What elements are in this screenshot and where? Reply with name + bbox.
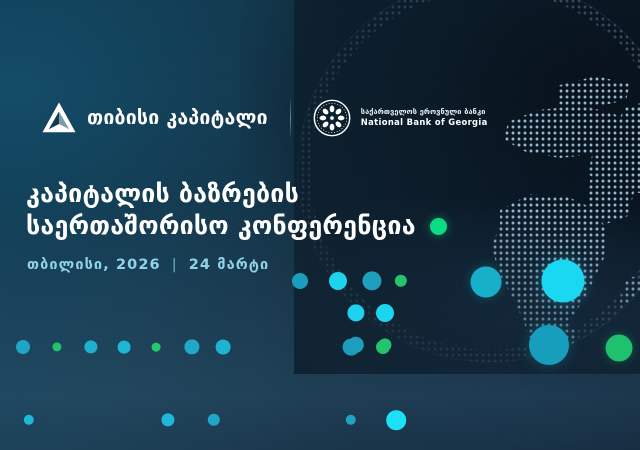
decor-dot <box>184 339 199 354</box>
decor-dot <box>362 271 381 290</box>
decor-dot <box>348 337 364 353</box>
decor-dot <box>395 275 407 287</box>
decor-dot <box>152 343 161 352</box>
decor-dot <box>329 272 347 290</box>
decor-dot <box>161 413 174 426</box>
decor-dot <box>84 340 97 353</box>
decor-dot <box>24 415 34 425</box>
decor-dot <box>16 340 30 354</box>
decor-dot <box>471 267 502 298</box>
conference-banner: თიბისი კაპიტალი <box>0 0 640 450</box>
decor-dot <box>376 304 394 322</box>
decor-dot <box>208 414 220 426</box>
decor-dot <box>542 260 585 303</box>
decorative-dot-grid <box>0 0 640 450</box>
decor-dot <box>347 304 364 321</box>
decor-dot <box>292 273 308 289</box>
decor-dot <box>606 335 633 362</box>
decor-dot <box>118 341 131 354</box>
decor-dot <box>52 342 61 351</box>
decor-dot <box>346 415 356 425</box>
decor-dot <box>378 338 391 351</box>
decor-dot <box>386 410 406 430</box>
decor-dot <box>216 340 231 355</box>
decor-dot <box>529 325 569 365</box>
